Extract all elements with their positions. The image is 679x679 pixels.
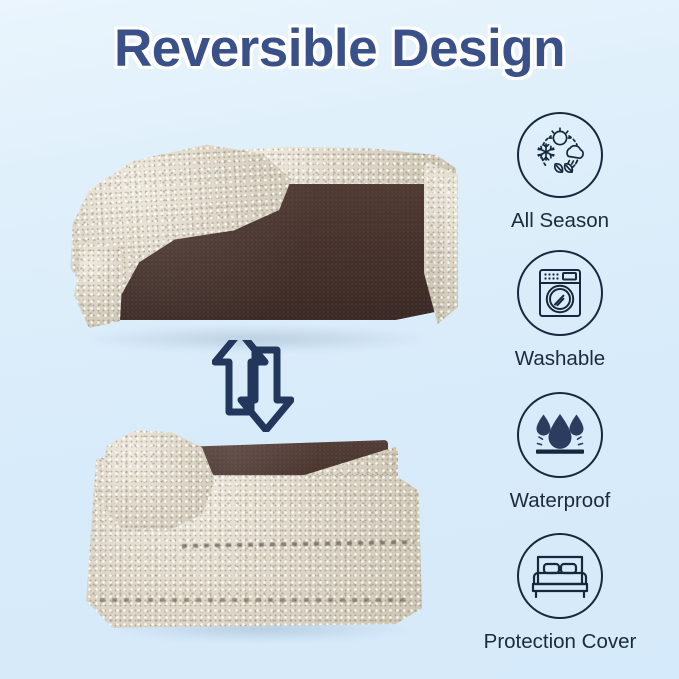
- feature-label: Washable: [450, 347, 670, 371]
- feature-washable: Washable: [450, 250, 670, 371]
- sherpa-left-edge: [74, 242, 124, 328]
- feature-label: All Season: [450, 209, 670, 233]
- blanket-photo-fleece-side: [56, 122, 458, 342]
- reversible-swap-arrows: [212, 340, 294, 432]
- all-season-glyph: [529, 124, 591, 186]
- feature-protection-cover: Protection Cover: [450, 533, 670, 654]
- page-title: Reversible Design: [0, 18, 679, 79]
- two-way-arrow-icon: [212, 340, 294, 432]
- all-season-icon: [517, 112, 603, 198]
- washing-machine-glyph: [531, 264, 589, 322]
- bed-icon: [517, 533, 603, 619]
- washing-machine-icon: [517, 250, 603, 336]
- feature-label: Waterproof: [450, 489, 670, 513]
- blanket-photo-sherpa-side: [86, 420, 436, 632]
- feature-waterproof: Waterproof: [450, 392, 670, 513]
- product-feature-poster: Reversible Design: [0, 0, 679, 679]
- feature-label: Protection Cover: [450, 630, 670, 654]
- water-droplets-icon: [517, 392, 603, 478]
- waterproof-glyph: [530, 406, 590, 464]
- bed-glyph: [529, 550, 591, 602]
- seam-line-lower: [100, 598, 410, 602]
- feature-all-season: All Season: [450, 112, 670, 233]
